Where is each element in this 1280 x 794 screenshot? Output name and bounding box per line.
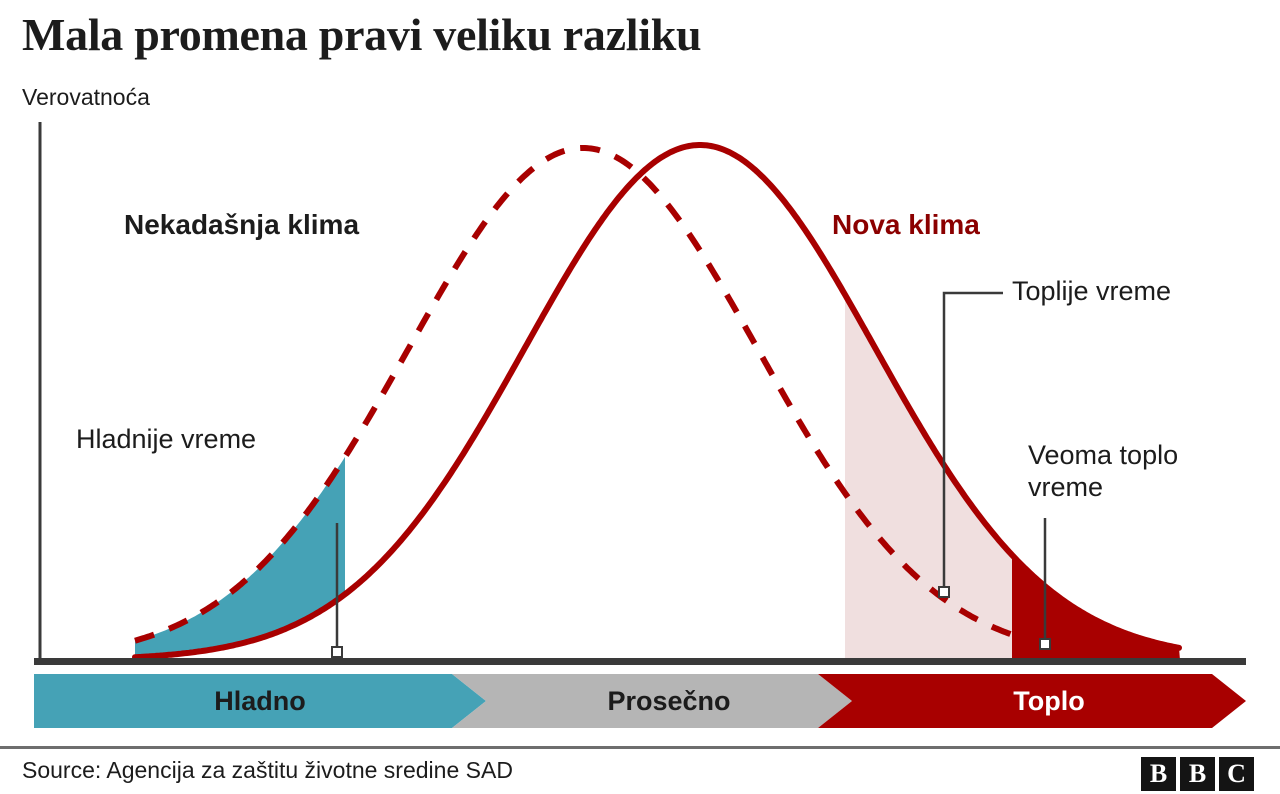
category-label-cold: Hladno xyxy=(34,674,486,728)
label-new-climate: Nova klima xyxy=(832,208,980,241)
footer-divider xyxy=(0,746,1280,749)
bbc-logo: B B C xyxy=(1141,757,1254,791)
label-colder-weather: Hladnije vreme xyxy=(76,424,256,456)
category-band: Hladno Prosečno Toplo xyxy=(34,674,1246,728)
shaded-region-colder xyxy=(40,0,345,662)
shaded-region-warmer xyxy=(845,0,1012,662)
source-text: Source: Agencija za zaštitu životne sred… xyxy=(22,757,513,784)
label-warmer-weather: Toplije vreme xyxy=(1012,276,1171,308)
category-label-warm: Toplo xyxy=(852,674,1246,728)
bbc-logo-letter-2: B xyxy=(1180,757,1215,791)
distribution-chart xyxy=(0,0,1280,740)
bbc-logo-letter-3: C xyxy=(1219,757,1254,791)
shaded-region-very-warm xyxy=(1012,0,1252,662)
category-label-average: Prosečno xyxy=(486,674,852,728)
infographic-root: Mala promena pravi veliku razliku Verova… xyxy=(0,0,1280,794)
bbc-logo-letter-1: B xyxy=(1141,757,1176,791)
label-very-warm-weather: Veoma toplo vreme xyxy=(1028,440,1260,504)
label-old-climate: Nekadašnja klima xyxy=(124,208,359,241)
x-axis xyxy=(34,658,1246,665)
